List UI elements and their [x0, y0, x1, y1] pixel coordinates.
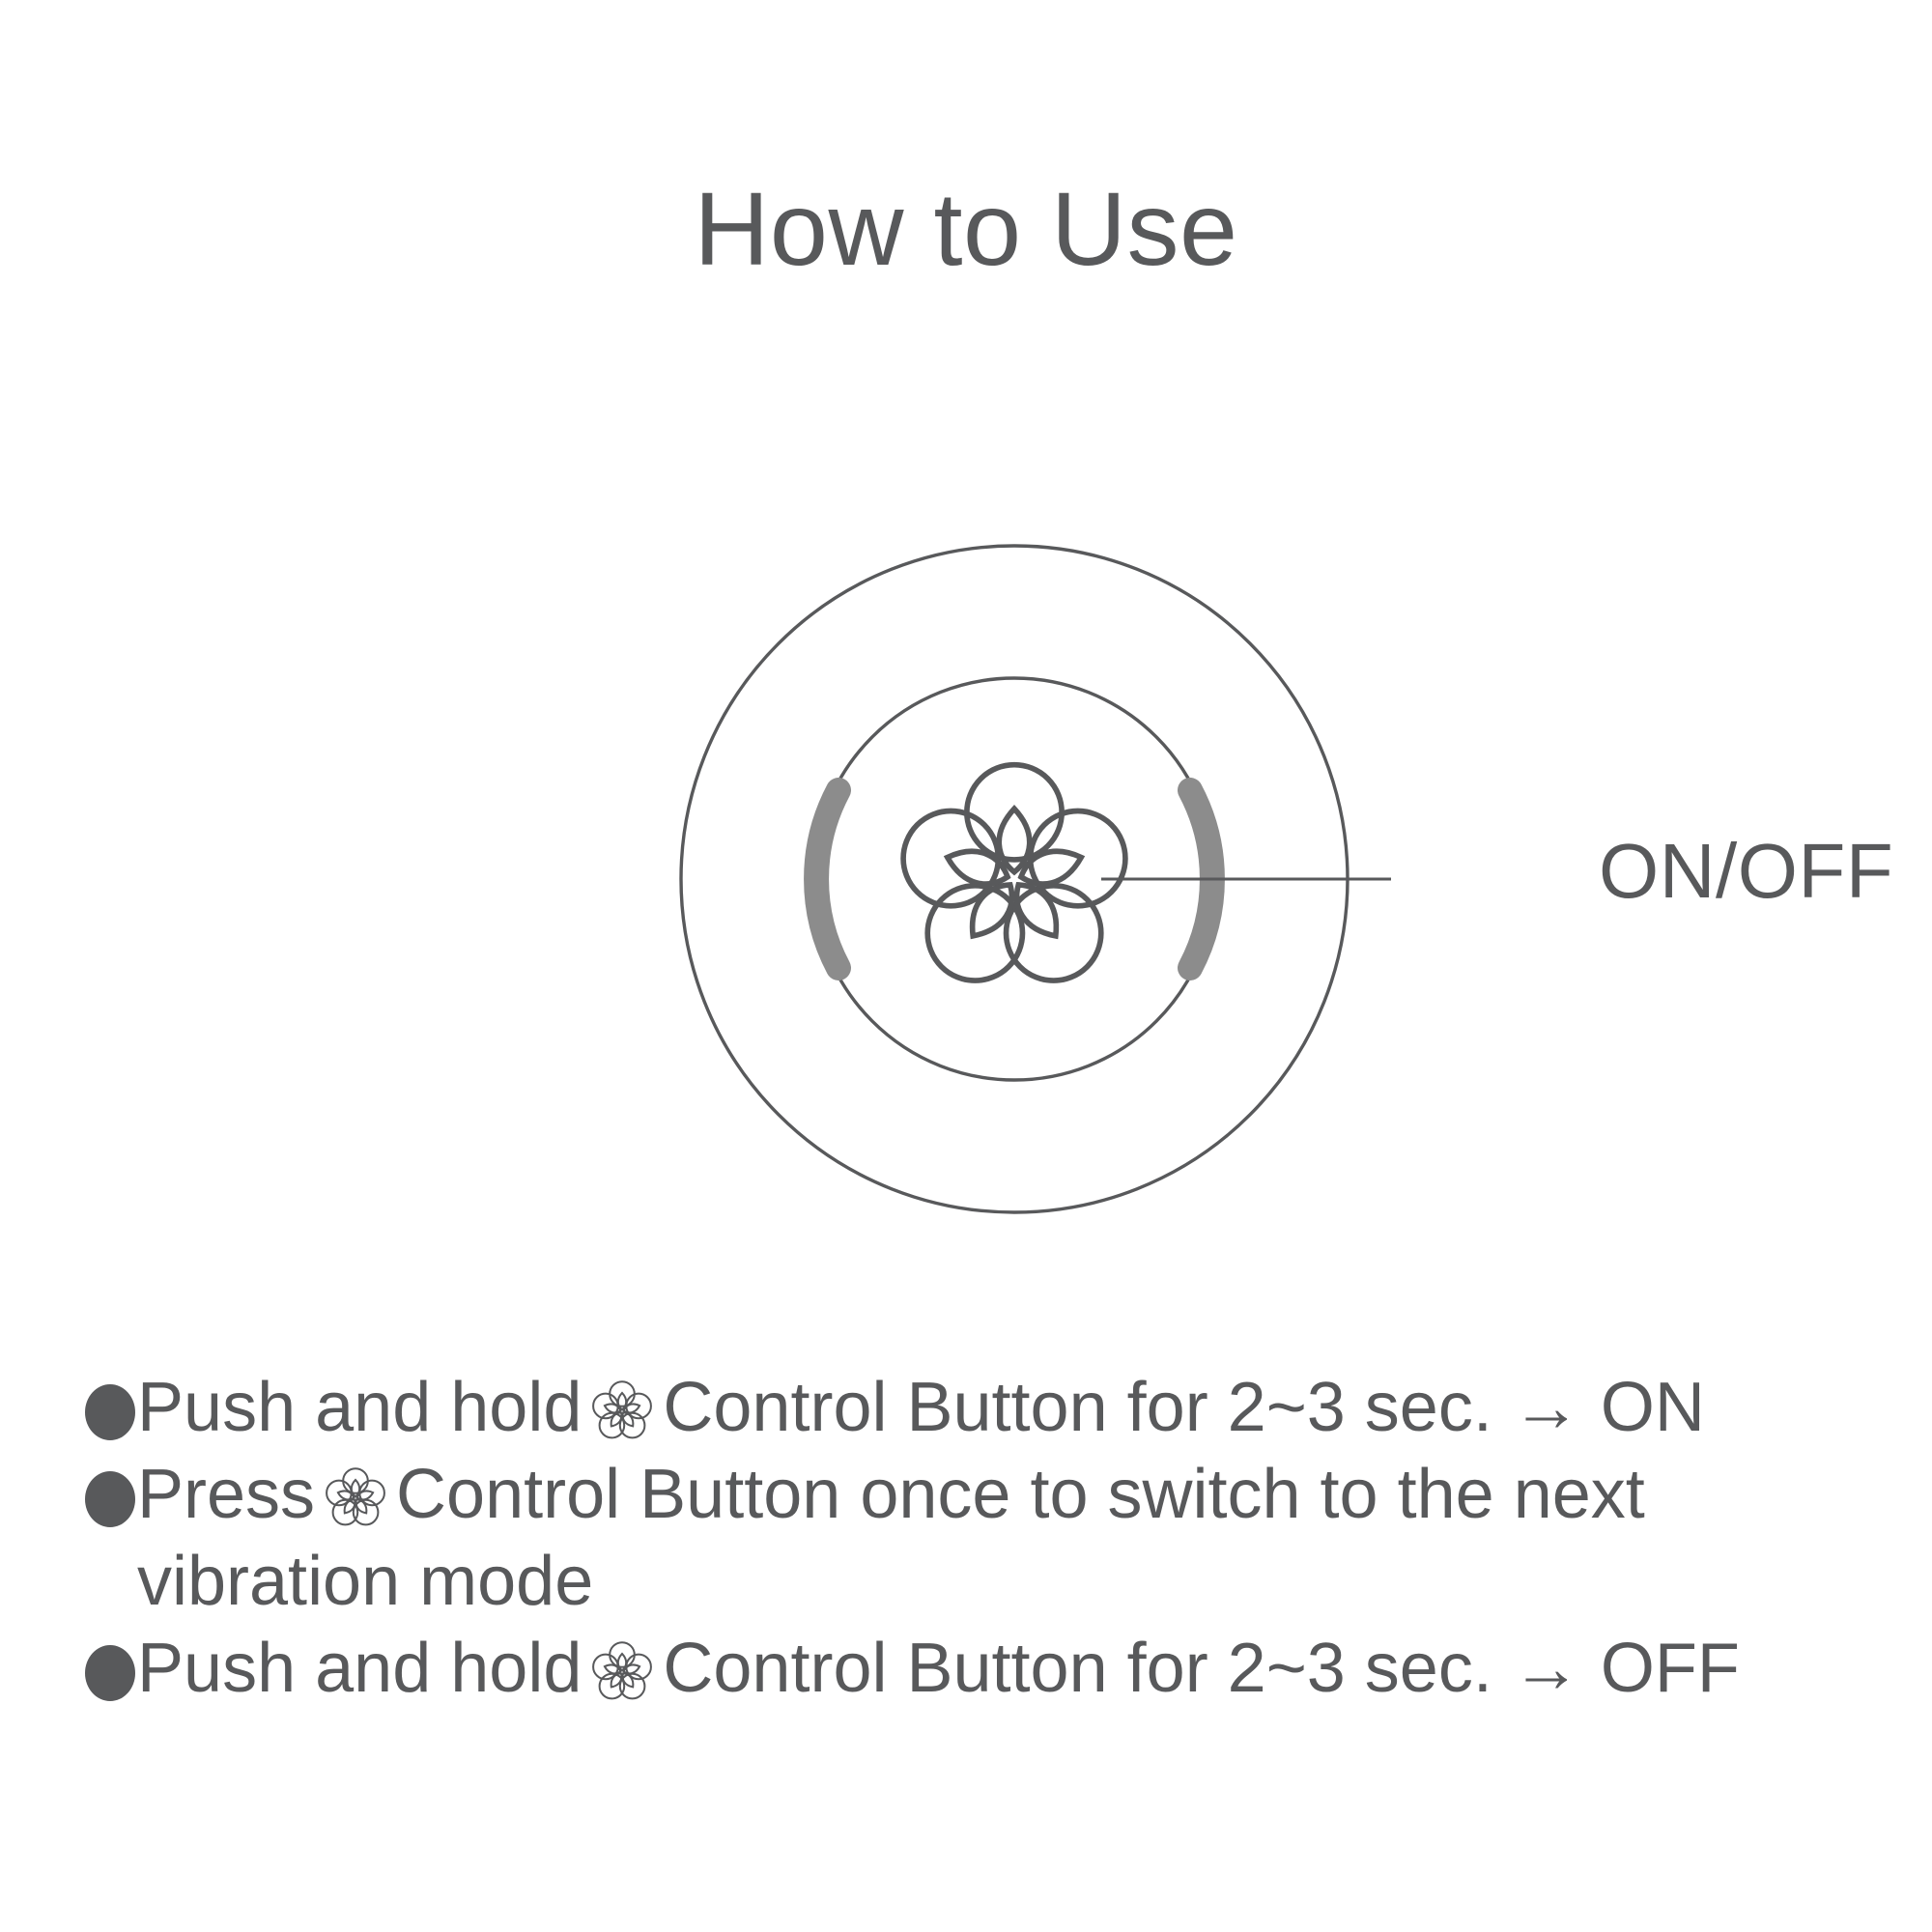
instruction-text-before-icon: Push and hold — [137, 1630, 582, 1707]
plum-blossom-icon — [587, 1377, 657, 1446]
instruction-text-after-icon: Control Button once to switch to the nex… — [396, 1456, 1645, 1533]
list-item: Push and hold Control Button for 2~3 sec… — [85, 1625, 1882, 1712]
plum-blossom-icon — [587, 1637, 657, 1707]
callout-label-on-off: ON/OFF — [1599, 833, 1893, 910]
list-item: Press Control Button once to switch to t… — [85, 1451, 1882, 1538]
instruction-text-after-icon: Control Button for 2~3 sec. → OFF — [663, 1630, 1739, 1707]
device-diagram — [618, 502, 1391, 1265]
left-grip-arc — [816, 790, 838, 968]
instruction-text-after-icon: Control Button for 2~3 sec. → ON — [663, 1369, 1705, 1446]
list-item: Push and hold Control Button for 2~3 sec… — [85, 1364, 1882, 1451]
instruction-text-before-icon: Press — [137, 1456, 315, 1533]
bullet-icon — [85, 1471, 135, 1527]
instruction-text-continuation: vibration mode — [137, 1543, 593, 1620]
bullet-icon — [85, 1384, 135, 1440]
bullet-icon — [85, 1645, 135, 1701]
page-title: How to Use — [0, 172, 1932, 287]
plum-blossom-icon — [321, 1463, 390, 1533]
plum-blossom-icon — [903, 765, 1125, 980]
list-item-continuation: vibration mode — [85, 1538, 1882, 1625]
page-root: How to Use — [0, 0, 1932, 1932]
instruction-list: Push and hold Control Button for 2~3 sec… — [85, 1364, 1882, 1712]
instruction-text-before-icon: Push and hold — [137, 1369, 582, 1446]
blossom-leaves — [943, 809, 1086, 945]
